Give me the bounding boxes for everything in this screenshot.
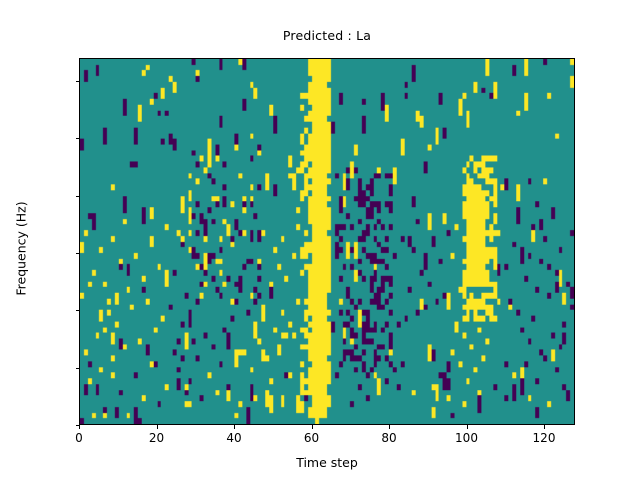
x-tick-label: 80	[381, 431, 396, 445]
x-axis-label: Time step	[79, 455, 575, 470]
x-axis-ticks: 020406080100120	[0, 0, 640, 480]
x-tick-mark	[312, 425, 313, 429]
x-tick-mark	[544, 425, 545, 429]
x-tick-mark	[157, 425, 158, 429]
x-tick-mark	[389, 425, 390, 429]
x-tick-mark	[234, 425, 235, 429]
x-tick-mark	[79, 425, 80, 429]
y-axis-label: Frequency (Hz)	[14, 179, 29, 319]
x-tick-label: 100	[455, 431, 478, 445]
x-tick-label: 20	[149, 431, 164, 445]
x-tick-mark	[467, 425, 468, 429]
x-tick-label: 60	[304, 431, 319, 445]
matplotlib-figure: Predicted : La 0200004000060000800001000…	[0, 0, 640, 480]
x-tick-label: 40	[226, 431, 241, 445]
x-tick-label: 120	[533, 431, 556, 445]
x-tick-label: 0	[75, 431, 83, 445]
